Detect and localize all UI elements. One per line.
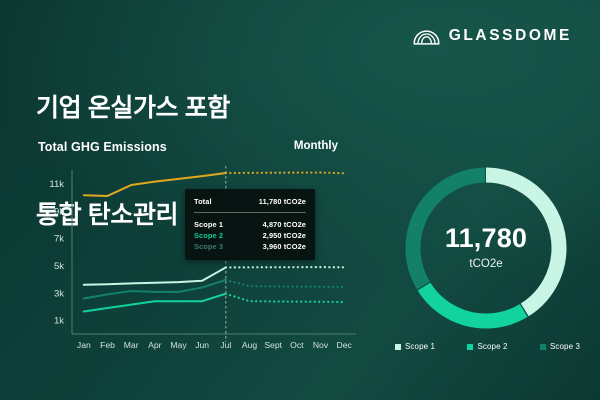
tooltip-label-scope1: Scope 1	[194, 219, 223, 230]
svg-text:1k: 1k	[54, 316, 64, 327]
svg-text:Jun: Jun	[195, 340, 209, 350]
svg-text:11k: 11k	[49, 179, 64, 190]
tooltip-row-scope3: Scope 3 3,960 tCO2e	[194, 241, 306, 252]
period-selector[interactable]: Monthly	[294, 140, 338, 152]
legend-swatch-scope2-icon	[467, 344, 473, 350]
brand-logo: GLASSDOME	[413, 27, 572, 45]
svg-text:5k: 5k	[54, 261, 64, 272]
legend-label-scope1: Scope 1	[405, 342, 435, 351]
tooltip-row-total: Total 11,780 tCO2e	[194, 196, 306, 207]
donut-legend: Scope 1 Scope 2 Scope 3	[395, 342, 580, 351]
svg-text:Sept: Sept	[264, 340, 282, 350]
ghg-donut-chart: 11,780 tCO2e	[398, 160, 574, 336]
dome-logo-icon	[413, 27, 440, 45]
legend-label-scope2: Scope 2	[477, 342, 507, 351]
tooltip-value-scope2: 2,950 tCO2e	[263, 230, 306, 241]
line-chart-header: Total GHG Emissions Monthly	[38, 140, 360, 160]
line-chart-title: Total GHG Emissions	[38, 140, 167, 154]
legend-item-scope2[interactable]: Scope 2	[467, 342, 507, 351]
svg-text:9k: 9k	[54, 206, 64, 217]
tooltip-label-scope3: Scope 3	[194, 241, 223, 252]
donut-total-value: 11,780	[445, 225, 527, 252]
svg-text:Nov: Nov	[313, 340, 329, 350]
brand-name: GLASSDOME	[449, 27, 572, 45]
legend-item-scope1[interactable]: Scope 1	[395, 342, 435, 351]
svg-text:May: May	[170, 340, 187, 350]
tooltip-value-scope3: 3,960 tCO2e	[263, 241, 306, 252]
tooltip-label-scope2: Scope 2	[194, 230, 223, 241]
tooltip-row-scope2: Scope 2 2,950 tCO2e	[194, 230, 306, 241]
legend-label-scope3: Scope 3	[550, 342, 580, 351]
svg-text:Dec: Dec	[337, 340, 353, 350]
tooltip-value-total: 11,780 tCO2e	[259, 196, 306, 207]
legend-item-scope3[interactable]: Scope 3	[540, 342, 580, 351]
svg-text:Mar: Mar	[124, 340, 139, 350]
legend-swatch-scope1-icon	[395, 344, 401, 350]
ghg-line-chart: Total GHG Emissions Monthly 1k3k5k7k9k11…	[30, 140, 360, 360]
svg-text:Apr: Apr	[148, 340, 162, 350]
legend-swatch-scope3-icon	[540, 344, 546, 350]
headline-line-1: 기업 온실가스 포함	[36, 91, 253, 127]
svg-text:7k: 7k	[54, 234, 64, 245]
tooltip-value-scope1: 4,870 tCO2e	[263, 219, 306, 230]
svg-text:Jan: Jan	[77, 340, 91, 350]
donut-unit-label: tCO2e	[469, 259, 502, 271]
tooltip-label-total: Total	[194, 196, 212, 207]
svg-text:3k: 3k	[54, 288, 64, 299]
tooltip-divider	[194, 212, 306, 213]
promo-banner: 기업 온실가스 포함 통합 탄소관리 솔루션 GLASSDOME Total G…	[0, 0, 600, 400]
svg-text:Aug: Aug	[242, 340, 258, 350]
svg-text:Oct: Oct	[290, 340, 304, 350]
svg-text:Feb: Feb	[100, 340, 115, 350]
chart-tooltip: Total 11,780 tCO2e Scope 1 4,870 tCO2e S…	[185, 189, 315, 260]
donut-center-label: 11,780 tCO2e	[398, 160, 574, 336]
tooltip-row-scope1: Scope 1 4,870 tCO2e	[194, 219, 306, 230]
